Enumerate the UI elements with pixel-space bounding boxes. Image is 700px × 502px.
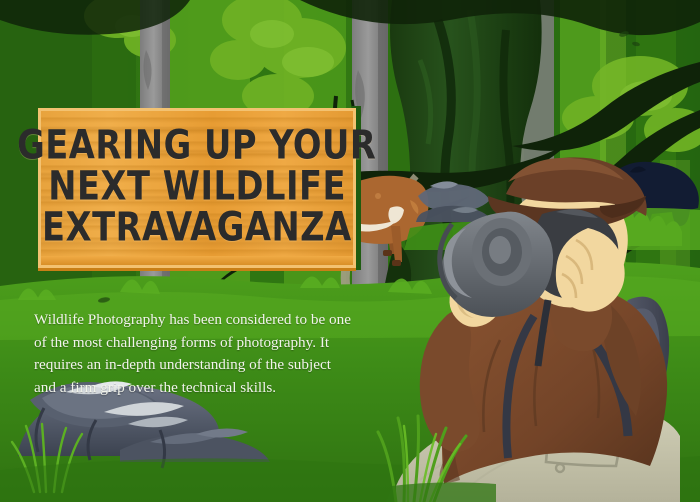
- wooden-signboard: [38, 108, 356, 268]
- signboard-bottom-rail: [38, 256, 356, 268]
- poster-canvas: GEARING UP YOUR NEXT WILDLIFE EXTRAVAGAN…: [0, 0, 700, 502]
- intro-paragraph: Wildlife Photography has been considered…: [34, 309, 354, 399]
